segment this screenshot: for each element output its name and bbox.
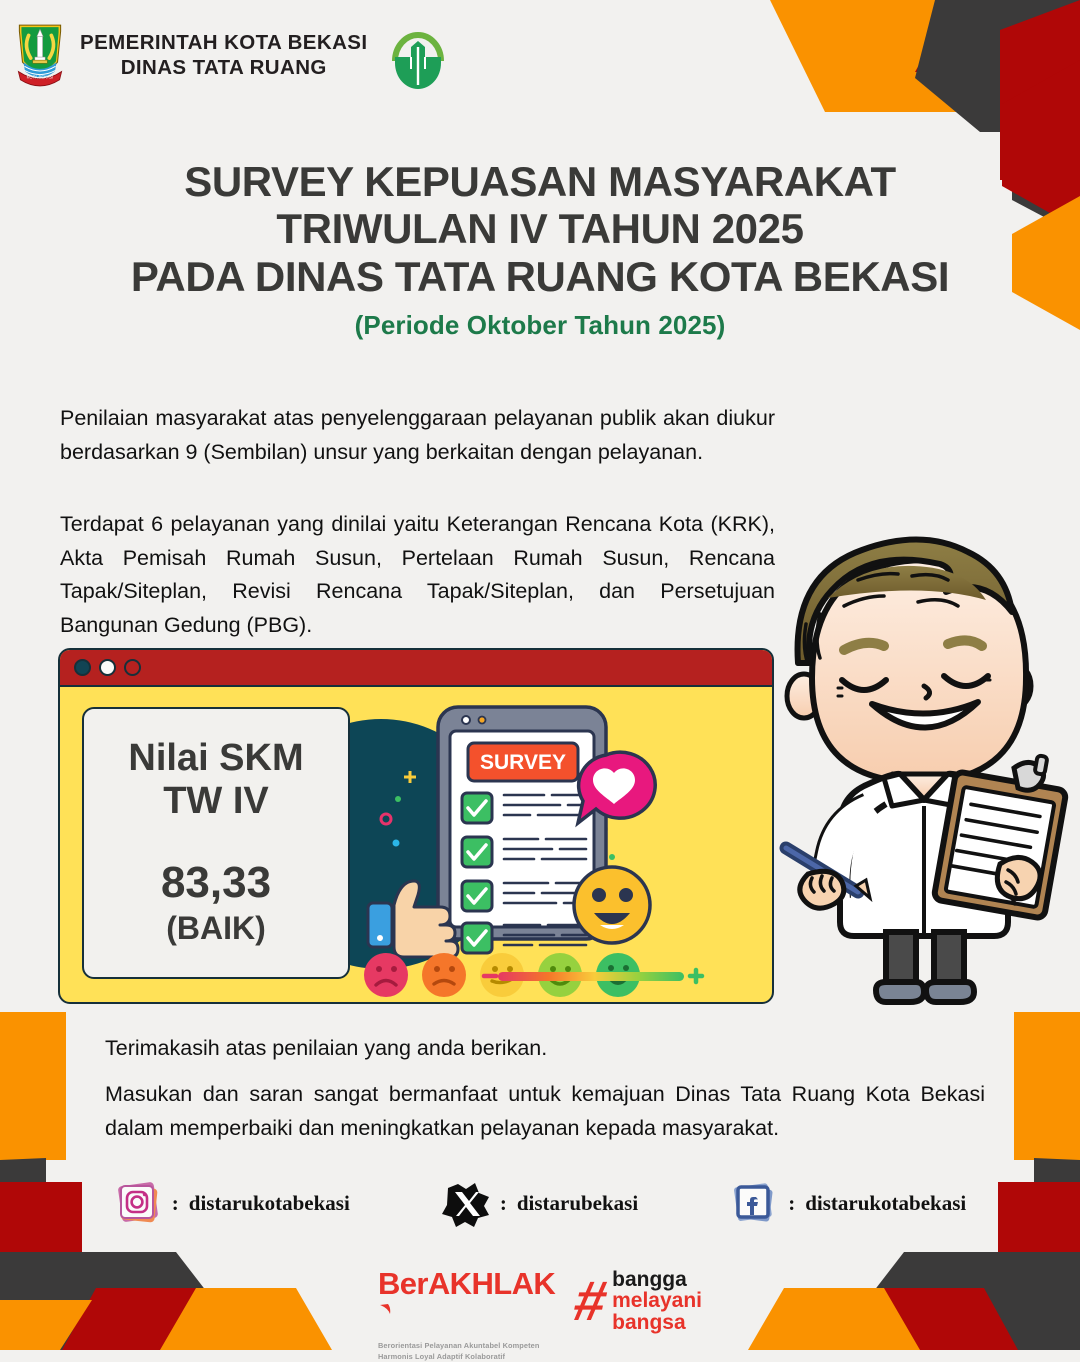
social-media-row: : distarukotabekasi : distarubekasi (0, 1168, 1080, 1238)
x-separator: : (500, 1191, 507, 1216)
deco-shape-orange-br (1014, 1012, 1080, 1160)
bangga-words: bangga melayani bangsa (612, 1269, 702, 1334)
bekasi-city-crest-icon: KOTA BEKASI (14, 22, 66, 88)
browser-frame: Nilai SKM TW IV 83,33 (BAIK) (58, 648, 774, 1004)
facebook-icon[interactable] (730, 1179, 778, 1227)
survey-button-text: SURVEY (480, 751, 566, 774)
window-dot-filled-teal-icon (74, 659, 91, 676)
title-subtitle: (Periode Oktober Tahun 2025) (0, 310, 1080, 341)
berakhlak-ber: Ber (378, 1266, 428, 1301)
org-line-2: DINAS TATA RUANG (80, 55, 367, 80)
body-paragraph-3: Terimakasih atas penilaian yang anda ber… (105, 1032, 985, 1066)
page-header: KOTA BEKASI PEMERINTAH KOTA BEKASI DINAS… (0, 0, 1080, 110)
surveyor-man-illustration (768, 528, 1080, 1014)
browser-titlebar (60, 650, 772, 687)
x-twitter-icon[interactable] (442, 1179, 490, 1227)
page-title: SURVEY KEPUASAN MASYARAKAT TRIWULAN IV T… (0, 158, 1080, 341)
heart-bubble-icon (578, 752, 655, 823)
rating-faces-row (364, 953, 640, 997)
skm-score-category: (BAIK) (166, 910, 266, 947)
berakhlak-akhlak: AKHLAK (428, 1266, 555, 1301)
berakhlak-logo: BerAKHLAK Berorientasi Pelayanan Akuntab… (378, 1266, 553, 1336)
title-line-2: TRIWULAN IV TAHUN 2025 (0, 205, 1080, 252)
facebook-handle: distarukotabekasi (805, 1191, 966, 1216)
body-paragraph-1: Penilaian masyarakat atas penyelenggaraa… (60, 402, 775, 469)
svg-text:KOTA BEKASI: KOTA BEKASI (27, 75, 54, 80)
instagram-handle: distarukotabekasi (189, 1191, 350, 1216)
skm-score-card: Nilai SKM TW IV 83,33 (BAIK) (82, 707, 350, 979)
browser-mockup-card: Nilai SKM TW IV 83,33 (BAIK) (58, 648, 774, 1004)
x-handle: distarubekasi (517, 1191, 638, 1216)
berakhlak-tagline: Berorientasi Pelayanan Akuntabel Kompete… (378, 1341, 553, 1362)
berakhlak-swoosh-icon (378, 1303, 394, 1319)
bangga-word-3: bangsa (612, 1311, 686, 1334)
footer-logo-row: BerAKHLAK Berorientasi Pelayanan Akuntab… (0, 1258, 1080, 1344)
social-facebook[interactable]: : distarukotabekasi (730, 1179, 966, 1227)
survey-illustration: SURVEY (360, 695, 760, 1000)
clipboard-icon (934, 755, 1067, 918)
hash-icon: # (570, 1279, 611, 1324)
skm-label-line-1: Nilai SKM (128, 737, 303, 780)
bangga-word-1: bangga (612, 1268, 687, 1291)
instagram-separator: : (172, 1191, 179, 1216)
deco-shape-orange-bl (0, 1012, 66, 1160)
poster-canvas: KOTA BEKASI PEMERINTAH KOTA BEKASI DINAS… (0, 0, 1080, 1350)
title-line-1: SURVEY KEPUASAN MASYARAKAT (0, 158, 1080, 205)
skm-score-value: 83,33 (161, 858, 271, 908)
window-dot-filled-white-icon (99, 659, 116, 676)
body-paragraph-4: Masukan dan saran sangat bermanfaat untu… (105, 1078, 985, 1145)
happy-face-icon (574, 867, 650, 943)
title-line-3: PADA DINAS TATA RUANG KOTA BEKASI (0, 253, 1080, 300)
browser-content: Nilai SKM TW IV 83,33 (BAIK) (60, 687, 772, 1004)
facebook-separator: : (788, 1191, 795, 1216)
organization-name: PEMERINTAH KOTA BEKASI DINAS TATA RUANG (80, 30, 367, 80)
social-x-twitter[interactable]: : distarubekasi (442, 1179, 638, 1227)
window-dot-outline-icon (124, 659, 141, 676)
bangga-word-2: melayani (612, 1289, 702, 1312)
instagram-icon[interactable] (114, 1179, 162, 1227)
berakhlak-wordmark: BerAKHLAK (378, 1266, 553, 1338)
body-paragraph-2: Terdapat 6 pelayanan yang dinilai yaitu … (60, 508, 775, 642)
skm-label-line-2: TW IV (163, 780, 269, 823)
berakhlak-tagline-2: Harmonis Loyal Adaptif Kolaboratif (378, 1352, 553, 1362)
bangga-melayani-bangsa-logo: # bangga melayani bangsa (575, 1269, 702, 1334)
org-line-1: PEMERINTAH KOTA BEKASI (80, 30, 367, 55)
social-instagram[interactable]: : distarukotabekasi (114, 1179, 350, 1227)
dinas-tata-ruang-logo-icon (387, 21, 449, 89)
